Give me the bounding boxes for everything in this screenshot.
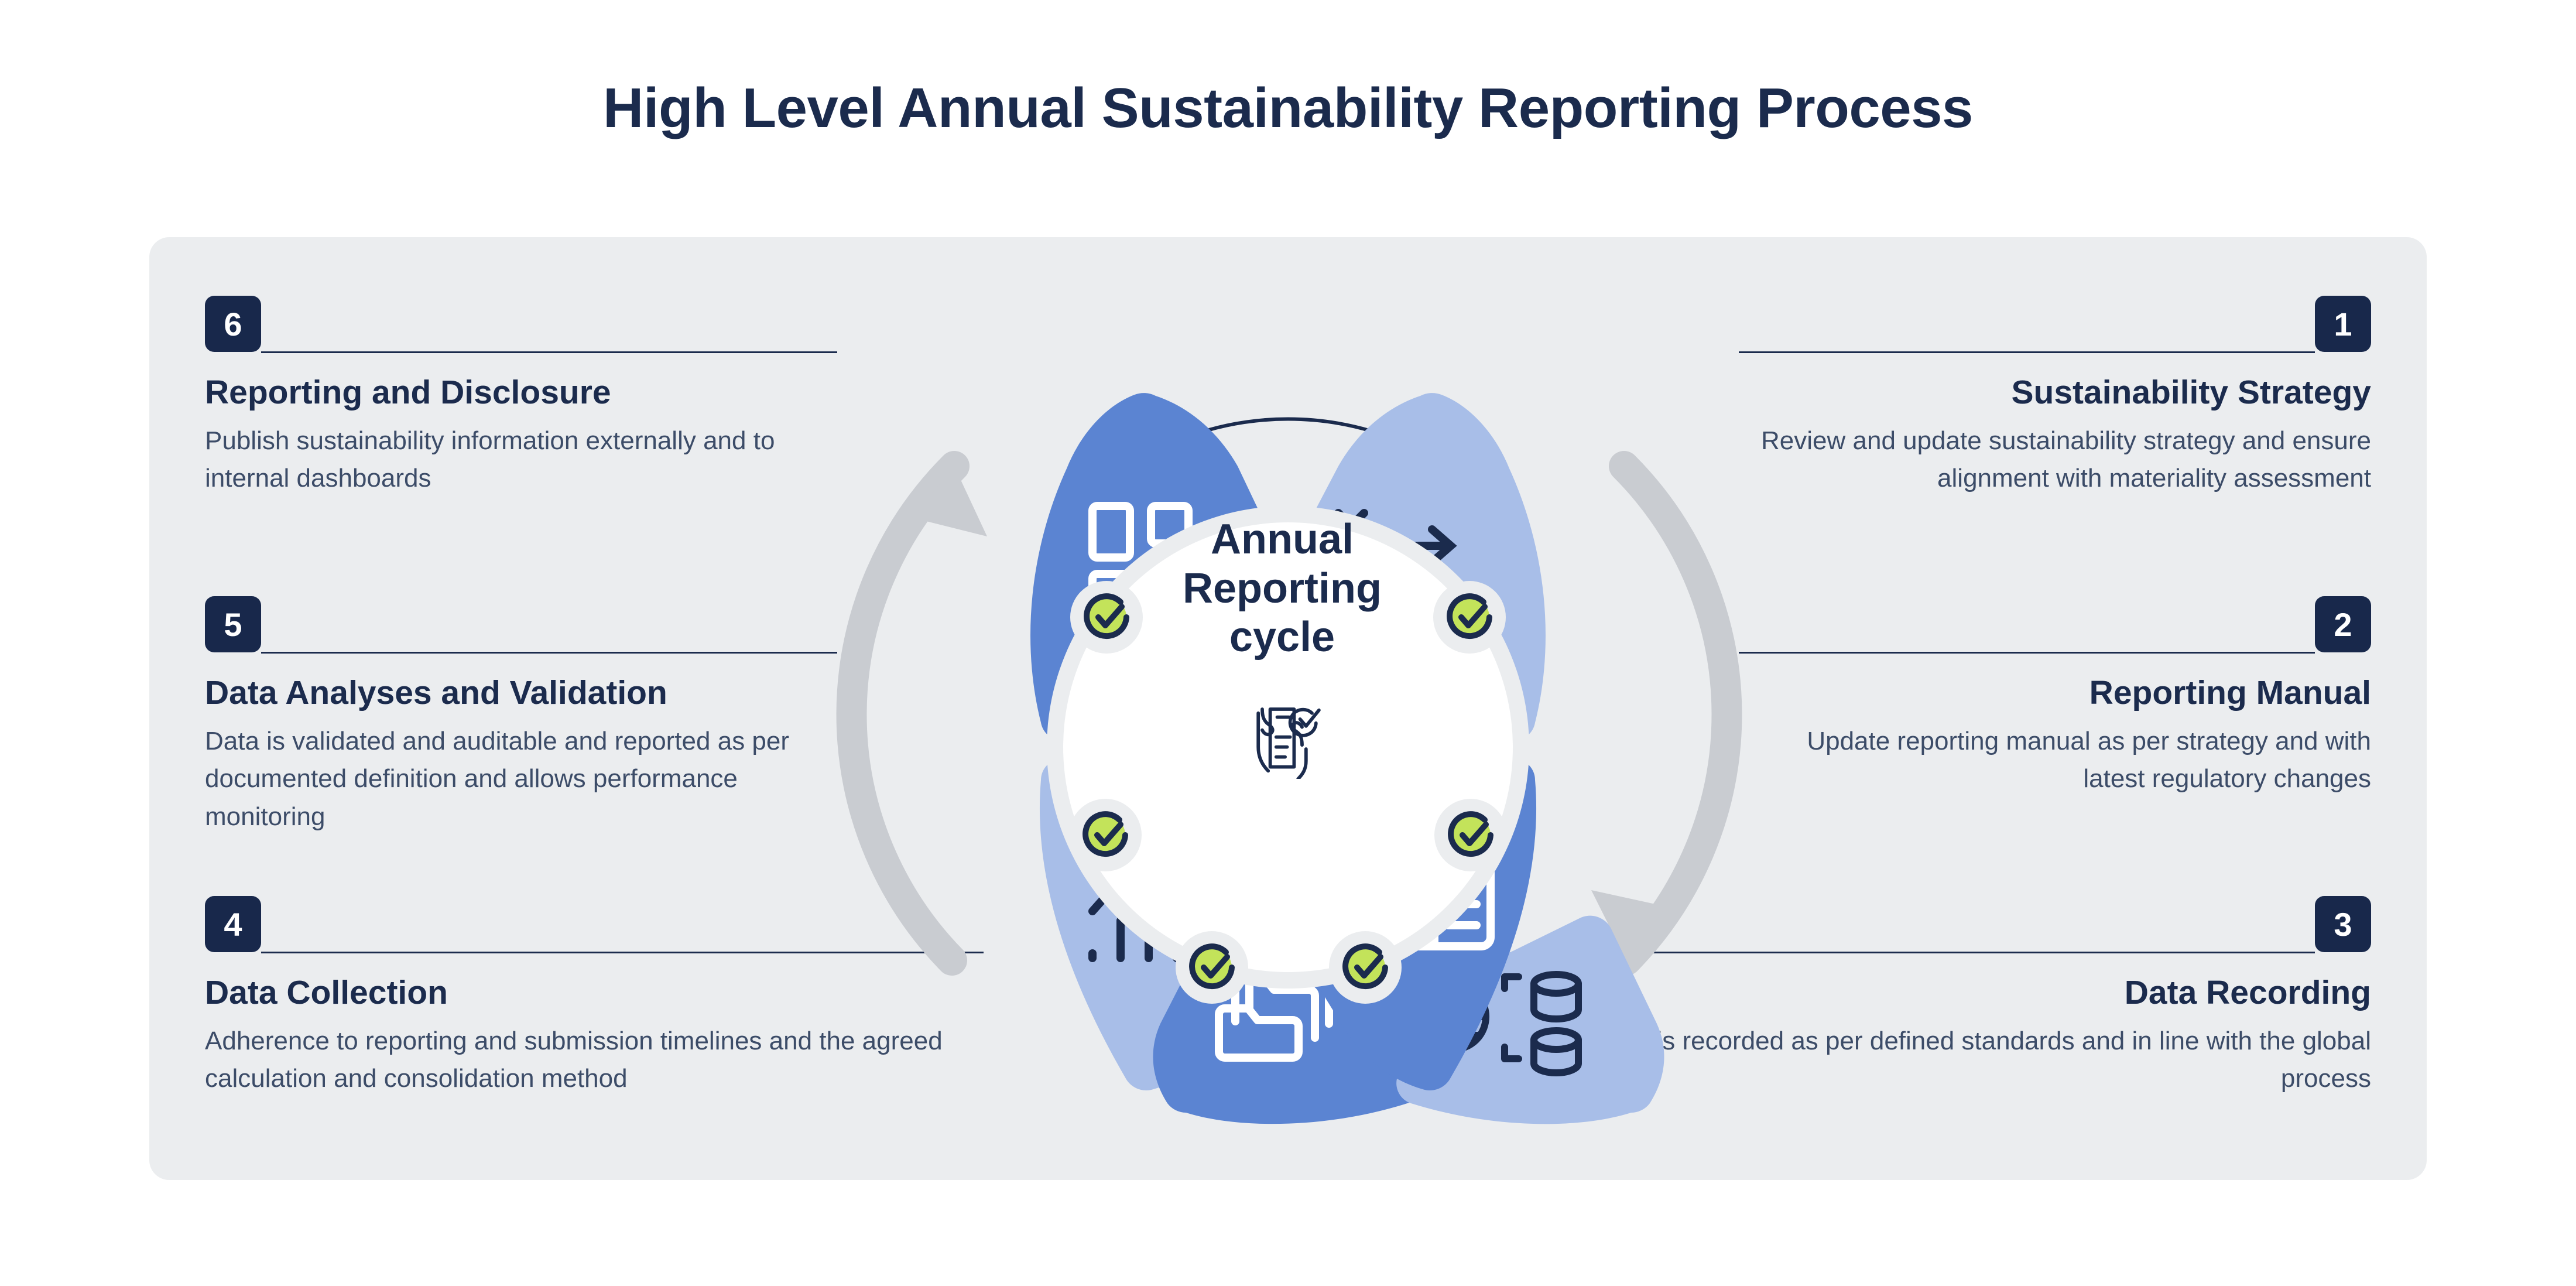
step-block-6[interactable]: 6 Reporting and Disclosure Publish susta… [205,296,837,498]
hand-holding-document-check-icon [1232,679,1332,779]
step-description-5: Data is validated and auditable and repo… [205,723,837,836]
check-badge-3 [1329,931,1402,1004]
curved-arrow-down-icon [1591,466,1727,960]
check-badge-4 [1176,931,1248,1004]
step-number-badge-3: 3 [2315,896,2371,952]
step-header-5: 5 [205,596,837,659]
step-rule-5 [261,652,837,654]
step-block-5[interactable]: 5 Data Analyses and Validation Data is v… [205,596,837,836]
step-header-2: 2 [1739,596,2371,659]
check-badge-5 [1069,799,1142,871]
check-badge-2 [1434,799,1507,871]
step-rule-2 [1739,652,2315,654]
curved-arrow-up-icon [852,466,987,960]
step-number-badge-5: 5 [205,596,261,652]
step-description-6: Publish sustainability information exter… [205,422,837,497]
step-number-badge-4: 4 [205,896,261,952]
step-description-1: Review and update sustainability strateg… [1739,422,2371,497]
step-number-badge-6: 6 [205,296,261,352]
step-block-2[interactable]: 2 Reporting Manual Update reporting manu… [1739,596,2371,798]
step-title-1: Sustainability Strategy [1739,373,2371,412]
step-number-badge-1: 1 [2315,296,2371,352]
step-header-1: 1 [1739,296,2371,359]
step-header-6: 6 [205,296,837,359]
check-badge-1 [1433,581,1506,654]
check-badge-6 [1070,581,1143,654]
step-title-2: Reporting Manual [1739,673,2371,712]
step-title-5: Data Analyses and Validation [205,673,837,712]
step-block-1[interactable]: 1 Sustainability Strategy Review and upd… [1739,296,2371,498]
page-title: High Level Annual Sustainability Reporti… [0,76,2576,141]
step-title-6: Reporting and Disclosure [205,373,837,412]
infographic-page: High Level Annual Sustainability Reporti… [0,0,2576,1286]
step-number-badge-2: 2 [2315,596,2371,652]
step-rule-6 [261,351,837,353]
step-rule-1 [1739,351,2315,353]
step-description-2: Update reporting manual as per strategy … [1739,723,2371,798]
